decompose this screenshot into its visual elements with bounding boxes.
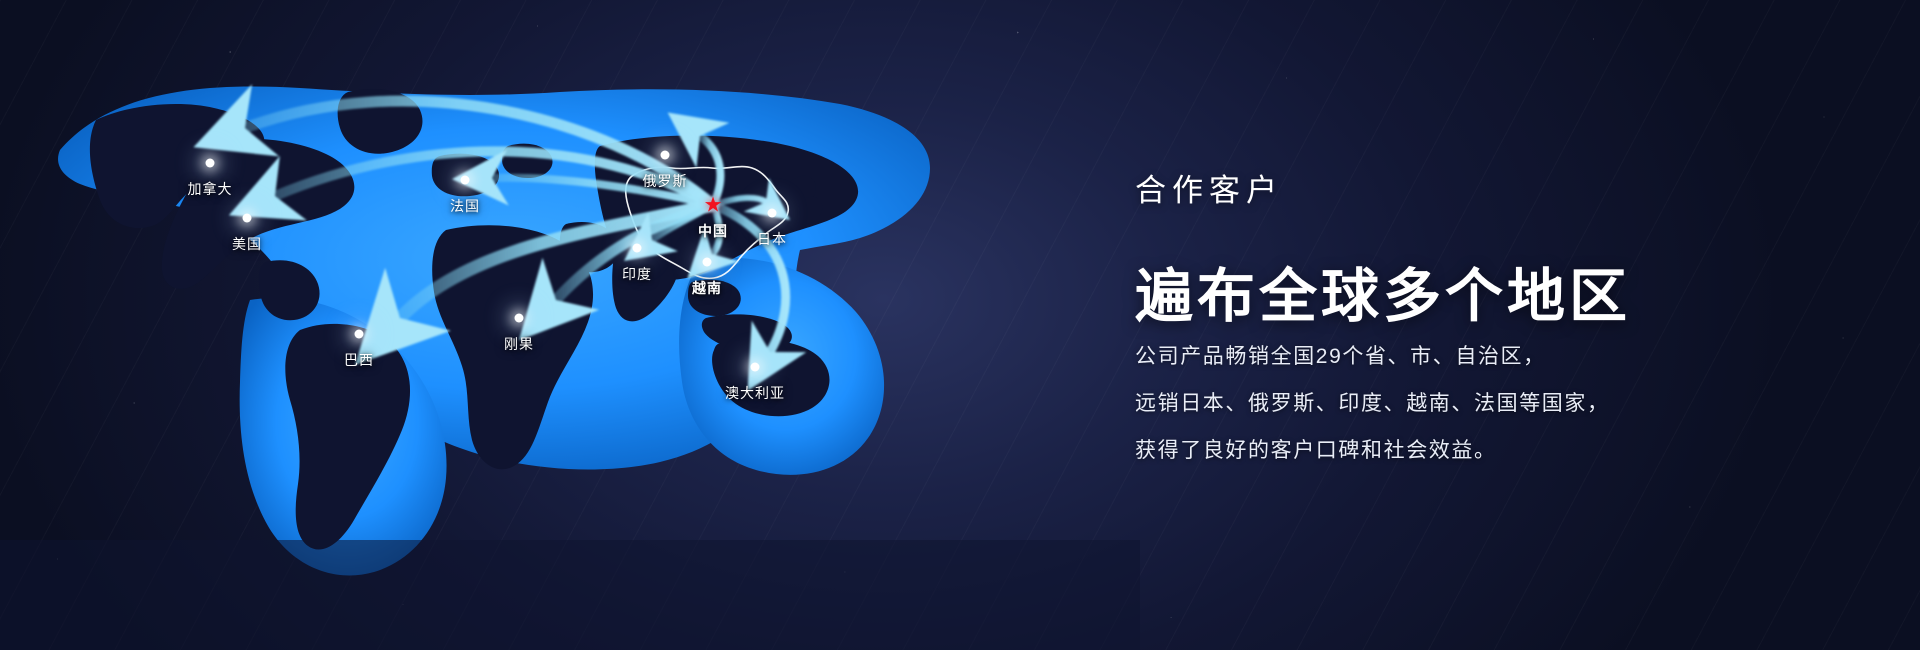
world-map: ★ 中国 加拿大 美国 巴西 法国 刚果 俄罗斯 印 [0, 0, 1140, 650]
description-paragraph: 公司产品畅销全国29个省、市、自治区， 远销日本、俄罗斯、印度、越南、法国等国家… [1135, 333, 1895, 474]
text-panel: 合作客户 遍布全球多个地区 公司产品畅销全国29个省、市、自治区， 远销日本、俄… [1135, 0, 1920, 650]
global-partners-banner: ★ 中国 加拿大 美国 巴西 法国 刚果 俄罗斯 印 [0, 0, 1920, 650]
paragraph-line: 公司产品畅销全国29个省、市、自治区， [1135, 333, 1895, 380]
paragraph-line: 远销日本、俄罗斯、印度、越南、法国等国家， [1135, 380, 1895, 427]
paragraph-line: 获得了良好的客户口碑和社会效益。 [1135, 427, 1895, 474]
page-title: 遍布全球多个地区 [1135, 249, 1631, 333]
world-map-svg [0, 0, 1140, 650]
eyebrow-title: 合作客户 [1135, 165, 1283, 210]
